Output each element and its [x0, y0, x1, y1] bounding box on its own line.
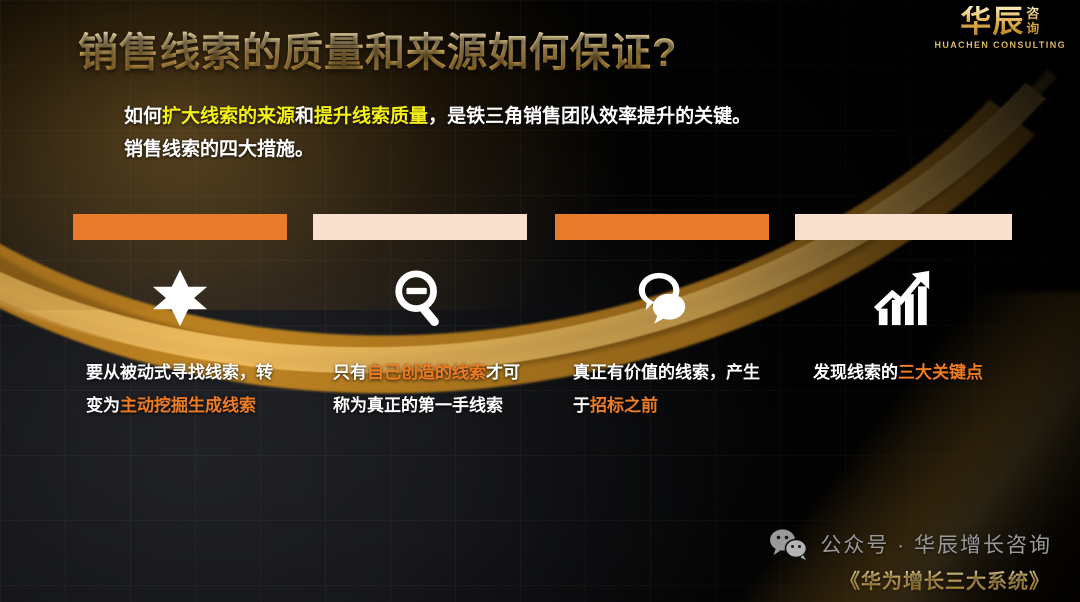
slide-canvas: 华辰 咨 询 HUACHEN CONSULTING 销售线索的质量和来源如何保证… [0, 0, 1080, 602]
subtitle-highlight-1: 扩大线索的来源 [162, 106, 295, 127]
subtitle-post: ，是铁三角销售团队效率提升的关键。 [428, 106, 751, 127]
subtitle-highlight-2: 提升线索质量 [314, 106, 428, 127]
measure-column-1: 要从被动式寻找线索，转变为主动挖掘生成线索 [73, 214, 287, 422]
magnifier-minus-icon [391, 267, 449, 329]
column-text-2: 只有自己创造的线索才可称为真正的第一手线索 [313, 356, 527, 422]
logo-chinese-stack-top: 咨 [1026, 7, 1040, 22]
subtitle-mid: 和 [295, 106, 314, 127]
logo-chinese-main: 华辰 [960, 6, 1024, 37]
column-text-4-orange: 三大关键点 [898, 363, 983, 382]
column-text-4: 发现线索的三大关键点 [795, 356, 1012, 389]
company-logo[interactable]: 华辰 咨 询 HUACHEN CONSULTING [934, 6, 1066, 50]
subtitle-line-1: 如何扩大线索的来源和提升线索质量，是铁三角销售团队效率提升的关键。 [124, 100, 751, 133]
column-text-2-orange: 自己创造的线索 [367, 363, 486, 382]
wechat-account-label: 公众号 · 华辰增长咨询 [820, 529, 1052, 559]
subtitle-pre: 如何 [124, 106, 162, 127]
column-text-4-white: 发现线索的 [813, 363, 898, 382]
column-text-2-white-a: 只有 [333, 363, 367, 382]
speech-bubbles-icon [629, 267, 695, 329]
column-bar-1 [73, 214, 287, 240]
growth-bar-chart-icon [873, 268, 935, 328]
column-text-1-orange: 主动挖掘生成线索 [120, 396, 256, 415]
column-icon-3-wrap [555, 240, 769, 356]
measure-column-3: 真正有价值的线索，产生于招标之前 [555, 214, 769, 422]
column-text-3: 真正有价值的线索，产生于招标之前 [555, 356, 769, 422]
column-icon-1-wrap [73, 240, 287, 356]
logo-english: HUACHEN CONSULTING [934, 41, 1066, 50]
wechat-icon [769, 528, 809, 560]
page-title: 销售线索的质量和来源如何保证? [78, 20, 677, 78]
logo-chinese: 华辰 咨 询 [934, 6, 1066, 37]
subtitle-block: 如何扩大线索的来源和提升线索质量，是铁三角销售团队效率提升的关键。 销售线索的四… [124, 100, 751, 167]
logo-chinese-stack-bottom: 询 [1026, 22, 1040, 37]
measure-column-4: 发现线索的三大关键点 [795, 214, 1012, 422]
column-text-3-orange: 招标之前 [590, 396, 658, 415]
column-icon-4-wrap [795, 240, 1012, 356]
column-text-1: 要从被动式寻找线索，转变为主动挖掘生成线索 [73, 356, 287, 422]
column-bar-4 [795, 214, 1012, 240]
wechat-footer[interactable]: 公众号 · 华辰增长咨询 [769, 528, 1052, 560]
logo-chinese-stack: 咨 询 [1026, 6, 1040, 37]
measures-row: 要从被动式寻找线索，转变为主动挖掘生成线索 只有自己创造的线索才可称为真正的第一… [0, 214, 1080, 422]
book-title: 《华为增长三大系统》 [840, 565, 1050, 594]
column-bar-3 [555, 214, 769, 240]
measure-column-2: 只有自己创造的线索才可称为真正的第一手线索 [313, 214, 527, 422]
column-bar-2 [313, 214, 527, 240]
subtitle-line-2: 销售线索的四大措施。 [124, 133, 751, 166]
six-pointed-star-icon [149, 267, 211, 329]
column-icon-2-wrap [313, 240, 527, 356]
